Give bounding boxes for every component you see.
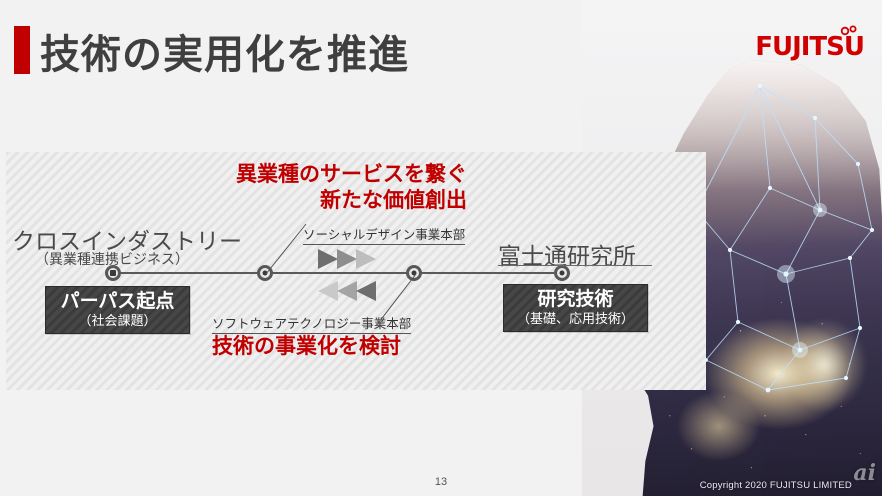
purpose-box[interactable]: パーパス起点 （社会課題）	[45, 286, 190, 334]
page-title: 技術の実用化を推進	[40, 22, 409, 80]
left-subheading: （異業種連携ビジネス）	[35, 249, 189, 269]
fujitsu-logo-text: FUJITSU	[755, 32, 864, 62]
copyright-text: Copyright 2020 FUJITSU LIMITED	[700, 480, 852, 491]
timeline-axis	[113, 272, 563, 274]
title-accent-bar	[14, 26, 30, 74]
triple-arrow-left-icon	[318, 280, 380, 302]
callout-top-leader	[262, 222, 308, 276]
callout-top-line1: 異業種のサービスを繋ぐ	[235, 162, 467, 188]
tower-glow	[764, 300, 882, 430]
fujitsu-logo-mark	[838, 25, 860, 36]
fujitsu-logo: FUJITSU	[755, 34, 864, 60]
triple-arrow-right-icon	[318, 248, 380, 270]
research-box-title: 研究技術	[504, 289, 647, 311]
slide-canvas: 技術の実用化を推進 FUJITSU クロスインダストリー （異業種連携ビジネス）…	[0, 0, 882, 496]
callout-bottom-text: 技術の事業化を検討	[212, 334, 401, 359]
callout-top-line2: 新たな価値創出	[235, 188, 467, 214]
callout-top-text: 異業種のサービスを繋ぐ 新たな価値創出	[235, 162, 467, 213]
purpose-box-title: パーパス起点	[46, 291, 189, 313]
callout-top-org: ソーシャルデザイン事業本部	[303, 224, 465, 245]
research-box[interactable]: 研究技術 （基礎、応用技術）	[503, 284, 648, 332]
research-box-sub: （基礎、応用技術）	[504, 312, 647, 328]
ai-watermark: ai	[853, 460, 876, 486]
right-heading-underline	[498, 265, 652, 266]
purpose-box-sub: （社会課題）	[46, 314, 189, 330]
